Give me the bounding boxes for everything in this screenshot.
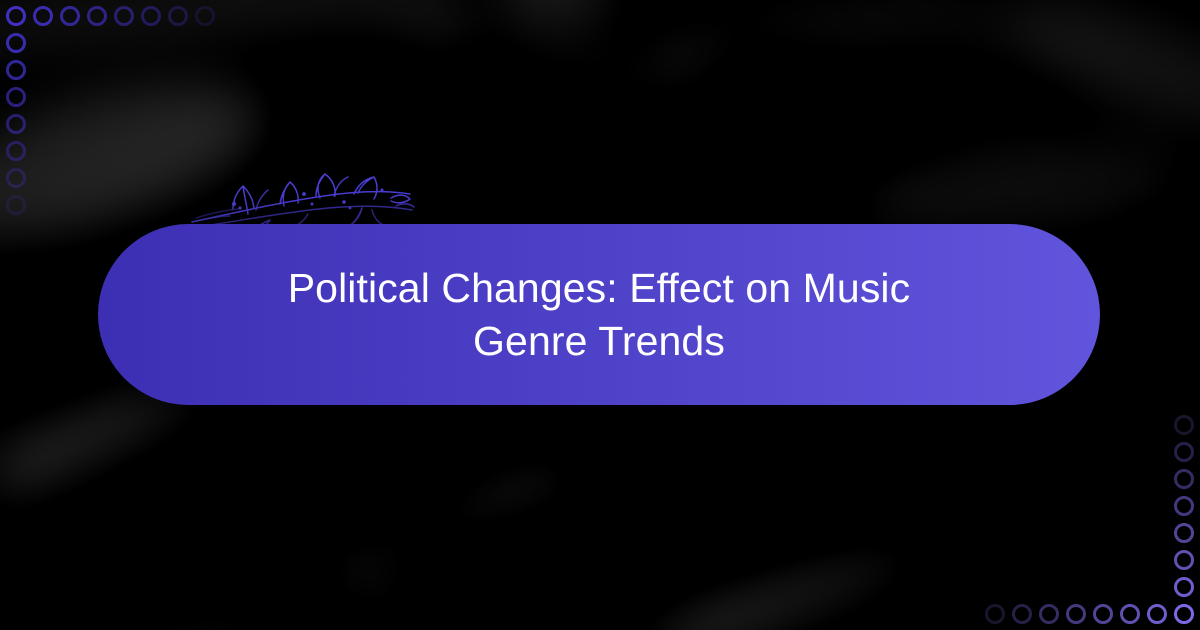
title-banner: Political Changes: Effect on Music Genre… bbox=[98, 224, 1100, 405]
share-card-canvas: Political Changes: Effect on Music Genre… bbox=[0, 0, 1200, 630]
banner-title: Political Changes: Effect on Music Genre… bbox=[189, 262, 1009, 367]
